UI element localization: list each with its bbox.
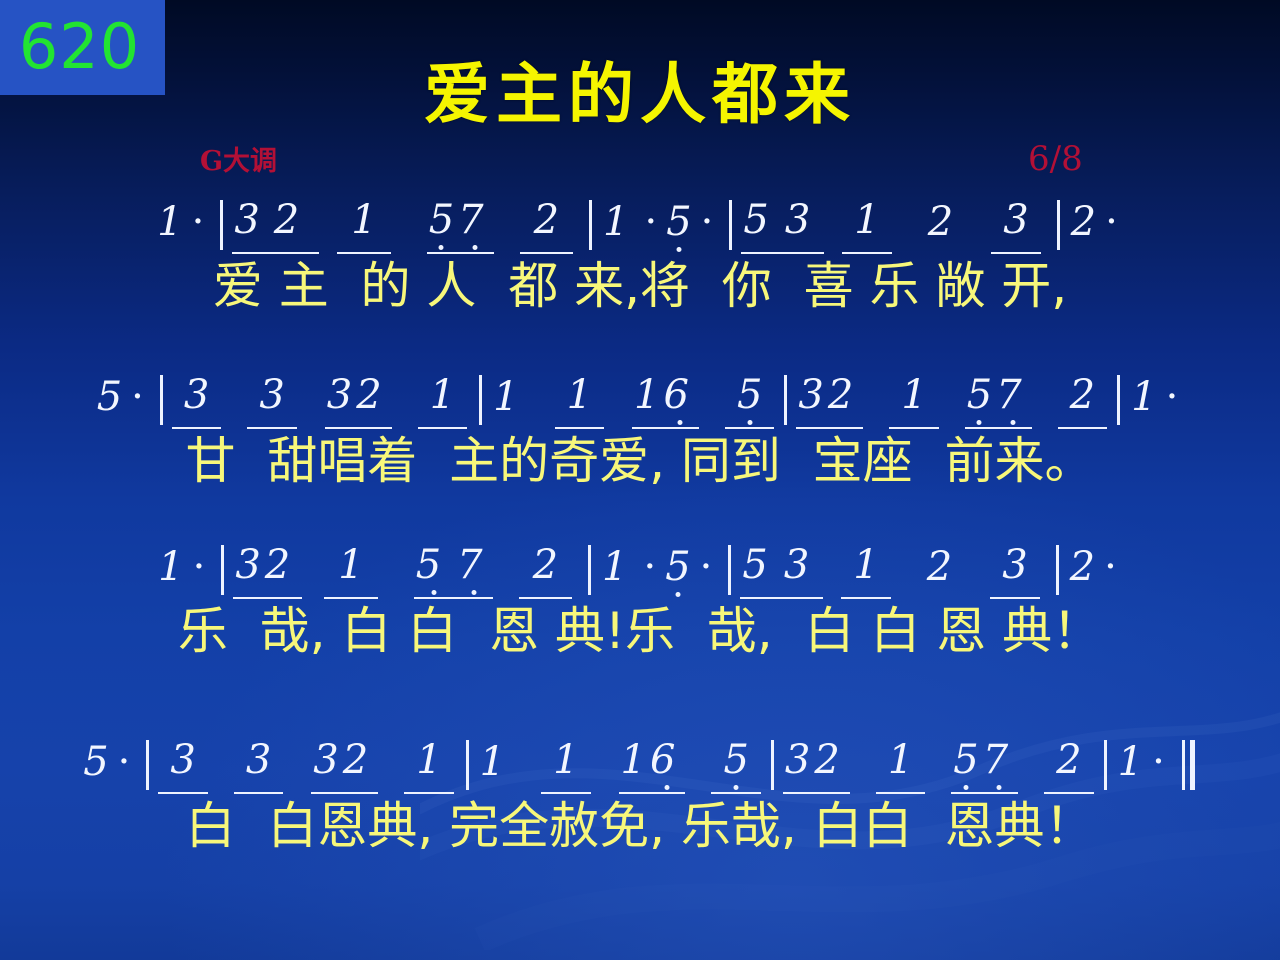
note: 5 <box>741 200 782 254</box>
barline <box>479 375 482 425</box>
note: 2 <box>925 547 954 599</box>
note: 2 <box>1058 375 1107 429</box>
music-line-3: 1 · 3 2 1 5 7 2 1 · 5 · 5 3 1 2 3 2 · 乐 … <box>0 545 1280 659</box>
key-signature: G大调 <box>200 148 277 175</box>
note: 2 <box>272 200 319 254</box>
barline <box>146 740 149 790</box>
barline <box>1056 545 1059 595</box>
note: 1 <box>889 375 938 429</box>
note: 3 <box>783 200 824 254</box>
note: 6 <box>648 740 685 794</box>
duration-dot: · <box>1097 547 1124 599</box>
duration-dot: · <box>1098 202 1125 254</box>
note: 2 <box>341 740 378 794</box>
time-signature: 6/8 <box>1028 142 1083 176</box>
note: 1 <box>600 547 629 599</box>
note: 3 <box>158 740 207 794</box>
note: 3 <box>233 545 262 599</box>
duration-dot: · <box>630 547 664 599</box>
note: 1 <box>876 740 925 794</box>
note: 1 <box>337 200 390 254</box>
note: 2 <box>354 375 391 429</box>
duration-dot: · <box>1159 377 1186 429</box>
barline <box>729 200 732 250</box>
note: 3 <box>796 375 825 429</box>
page-title: 爱主的人都来 <box>0 62 1280 128</box>
barline <box>160 375 163 425</box>
double-barline <box>1182 740 1195 790</box>
barline <box>1104 740 1107 790</box>
note: 7 <box>994 375 1031 429</box>
lyrics-row-1: 爱 主 的 人 都 来,将 你 喜 乐 敞 开, <box>0 258 1280 314</box>
note: 2 <box>1068 547 1097 599</box>
note: 7 <box>456 200 493 254</box>
barline <box>1117 375 1120 425</box>
note: 1 <box>155 202 184 254</box>
notation-row-2: 5 · 3 3 3 2 1 1 1 1 6 5 3 2 1 5 7 2 1 · <box>0 375 1280 429</box>
note: 1 <box>1116 742 1145 794</box>
notation-row-4: 5 · 3 3 3 2 1 1 1 1 6 5 3 2 1 5 7 2 1 · <box>0 740 1280 794</box>
note: 1 <box>541 740 590 794</box>
note: 2 <box>520 200 573 254</box>
duration-dot: · <box>185 202 212 254</box>
note: 5 <box>740 545 781 599</box>
note: 7 <box>455 545 492 599</box>
barline <box>588 545 591 595</box>
note: 5 <box>711 740 760 794</box>
note: 1 <box>404 740 453 794</box>
music-line-1: 1 · 3 2 1 5 7 2 1 · 5 · 5 3 1 2 3 2 · 爱 … <box>0 200 1280 314</box>
music-line-2: 5 · 3 3 3 2 1 1 1 1 6 5 3 2 1 5 7 2 1 · … <box>0 375 1280 489</box>
note: 5 <box>414 545 455 599</box>
barline <box>728 545 731 595</box>
note: 5 <box>95 377 124 429</box>
note: 3 <box>311 740 340 794</box>
note: 3 <box>234 740 283 794</box>
note: 1 <box>324 545 377 599</box>
note: 1 <box>601 202 630 254</box>
note: 3 <box>782 545 823 599</box>
note: 3 <box>247 375 296 429</box>
note: 2 <box>1044 740 1093 794</box>
note: 3 <box>325 375 354 429</box>
note: 5 <box>663 547 692 599</box>
note: 3 <box>990 545 1039 599</box>
note: 5 <box>965 375 994 429</box>
note: 1 <box>632 375 661 429</box>
note: 7 <box>981 740 1018 794</box>
note: 1 <box>555 375 604 429</box>
note: 3 <box>232 200 271 254</box>
barline <box>771 740 774 790</box>
note: 1 <box>156 547 185 599</box>
duration-dot: · <box>631 202 665 254</box>
music-line-4: 5 · 3 3 3 2 1 1 1 1 6 5 3 2 1 5 7 2 1 · … <box>0 740 1280 854</box>
duration-dot: · <box>186 547 213 599</box>
barline <box>1057 200 1060 250</box>
barline <box>221 545 224 595</box>
barline <box>589 200 592 250</box>
note: 5 <box>664 202 693 254</box>
notation-row-3: 1 · 3 2 1 5 7 2 1 · 5 · 5 3 1 2 3 2 · <box>0 545 1280 599</box>
barline <box>220 200 223 250</box>
note: 2 <box>1069 202 1098 254</box>
note: 1 <box>418 375 467 429</box>
note: 5 <box>427 200 456 254</box>
note: 1 <box>841 545 890 599</box>
note: 5 <box>725 375 774 429</box>
notation-row-1: 1 · 3 2 1 5 7 2 1 · 5 · 5 3 1 2 3 2 · <box>0 200 1280 254</box>
duration-dot: · <box>693 547 720 599</box>
note: 2 <box>263 545 302 599</box>
note: 2 <box>926 202 955 254</box>
barline <box>784 375 787 425</box>
duration-dot: · <box>111 742 138 794</box>
hymn-slide: 620 爱主的人都来 G大调 6/8 1 · 3 2 1 5 7 2 1 · 5… <box>0 0 1280 960</box>
note: 6 <box>662 375 699 429</box>
note: 3 <box>783 740 812 794</box>
note: 3 <box>172 375 221 429</box>
duration-dot: · <box>1145 742 1172 794</box>
lyrics-row-2: 甘 甜唱着 主的奇爱, 同到 宝座 前来。 <box>0 433 1280 489</box>
duration-dot: · <box>124 377 151 429</box>
note: 1 <box>478 742 507 794</box>
note: 5 <box>81 742 110 794</box>
note: 1 <box>491 377 520 429</box>
duration-dot: · <box>694 202 721 254</box>
note: 2 <box>519 545 572 599</box>
lyrics-row-3: 乐 哉, 白 白 恩 典!乐 哉, 白 白 恩 典！ <box>0 603 1280 659</box>
note: 1 <box>1129 377 1158 429</box>
note: 1 <box>619 740 648 794</box>
barline <box>466 740 469 790</box>
note: 2 <box>812 740 849 794</box>
note: 2 <box>826 375 863 429</box>
lyrics-row-4: 白 白恩典, 完全赦免, 乐哉, 白白 恩典！ <box>0 798 1280 854</box>
note: 5 <box>951 740 980 794</box>
note: 3 <box>991 200 1040 254</box>
note: 1 <box>842 200 891 254</box>
